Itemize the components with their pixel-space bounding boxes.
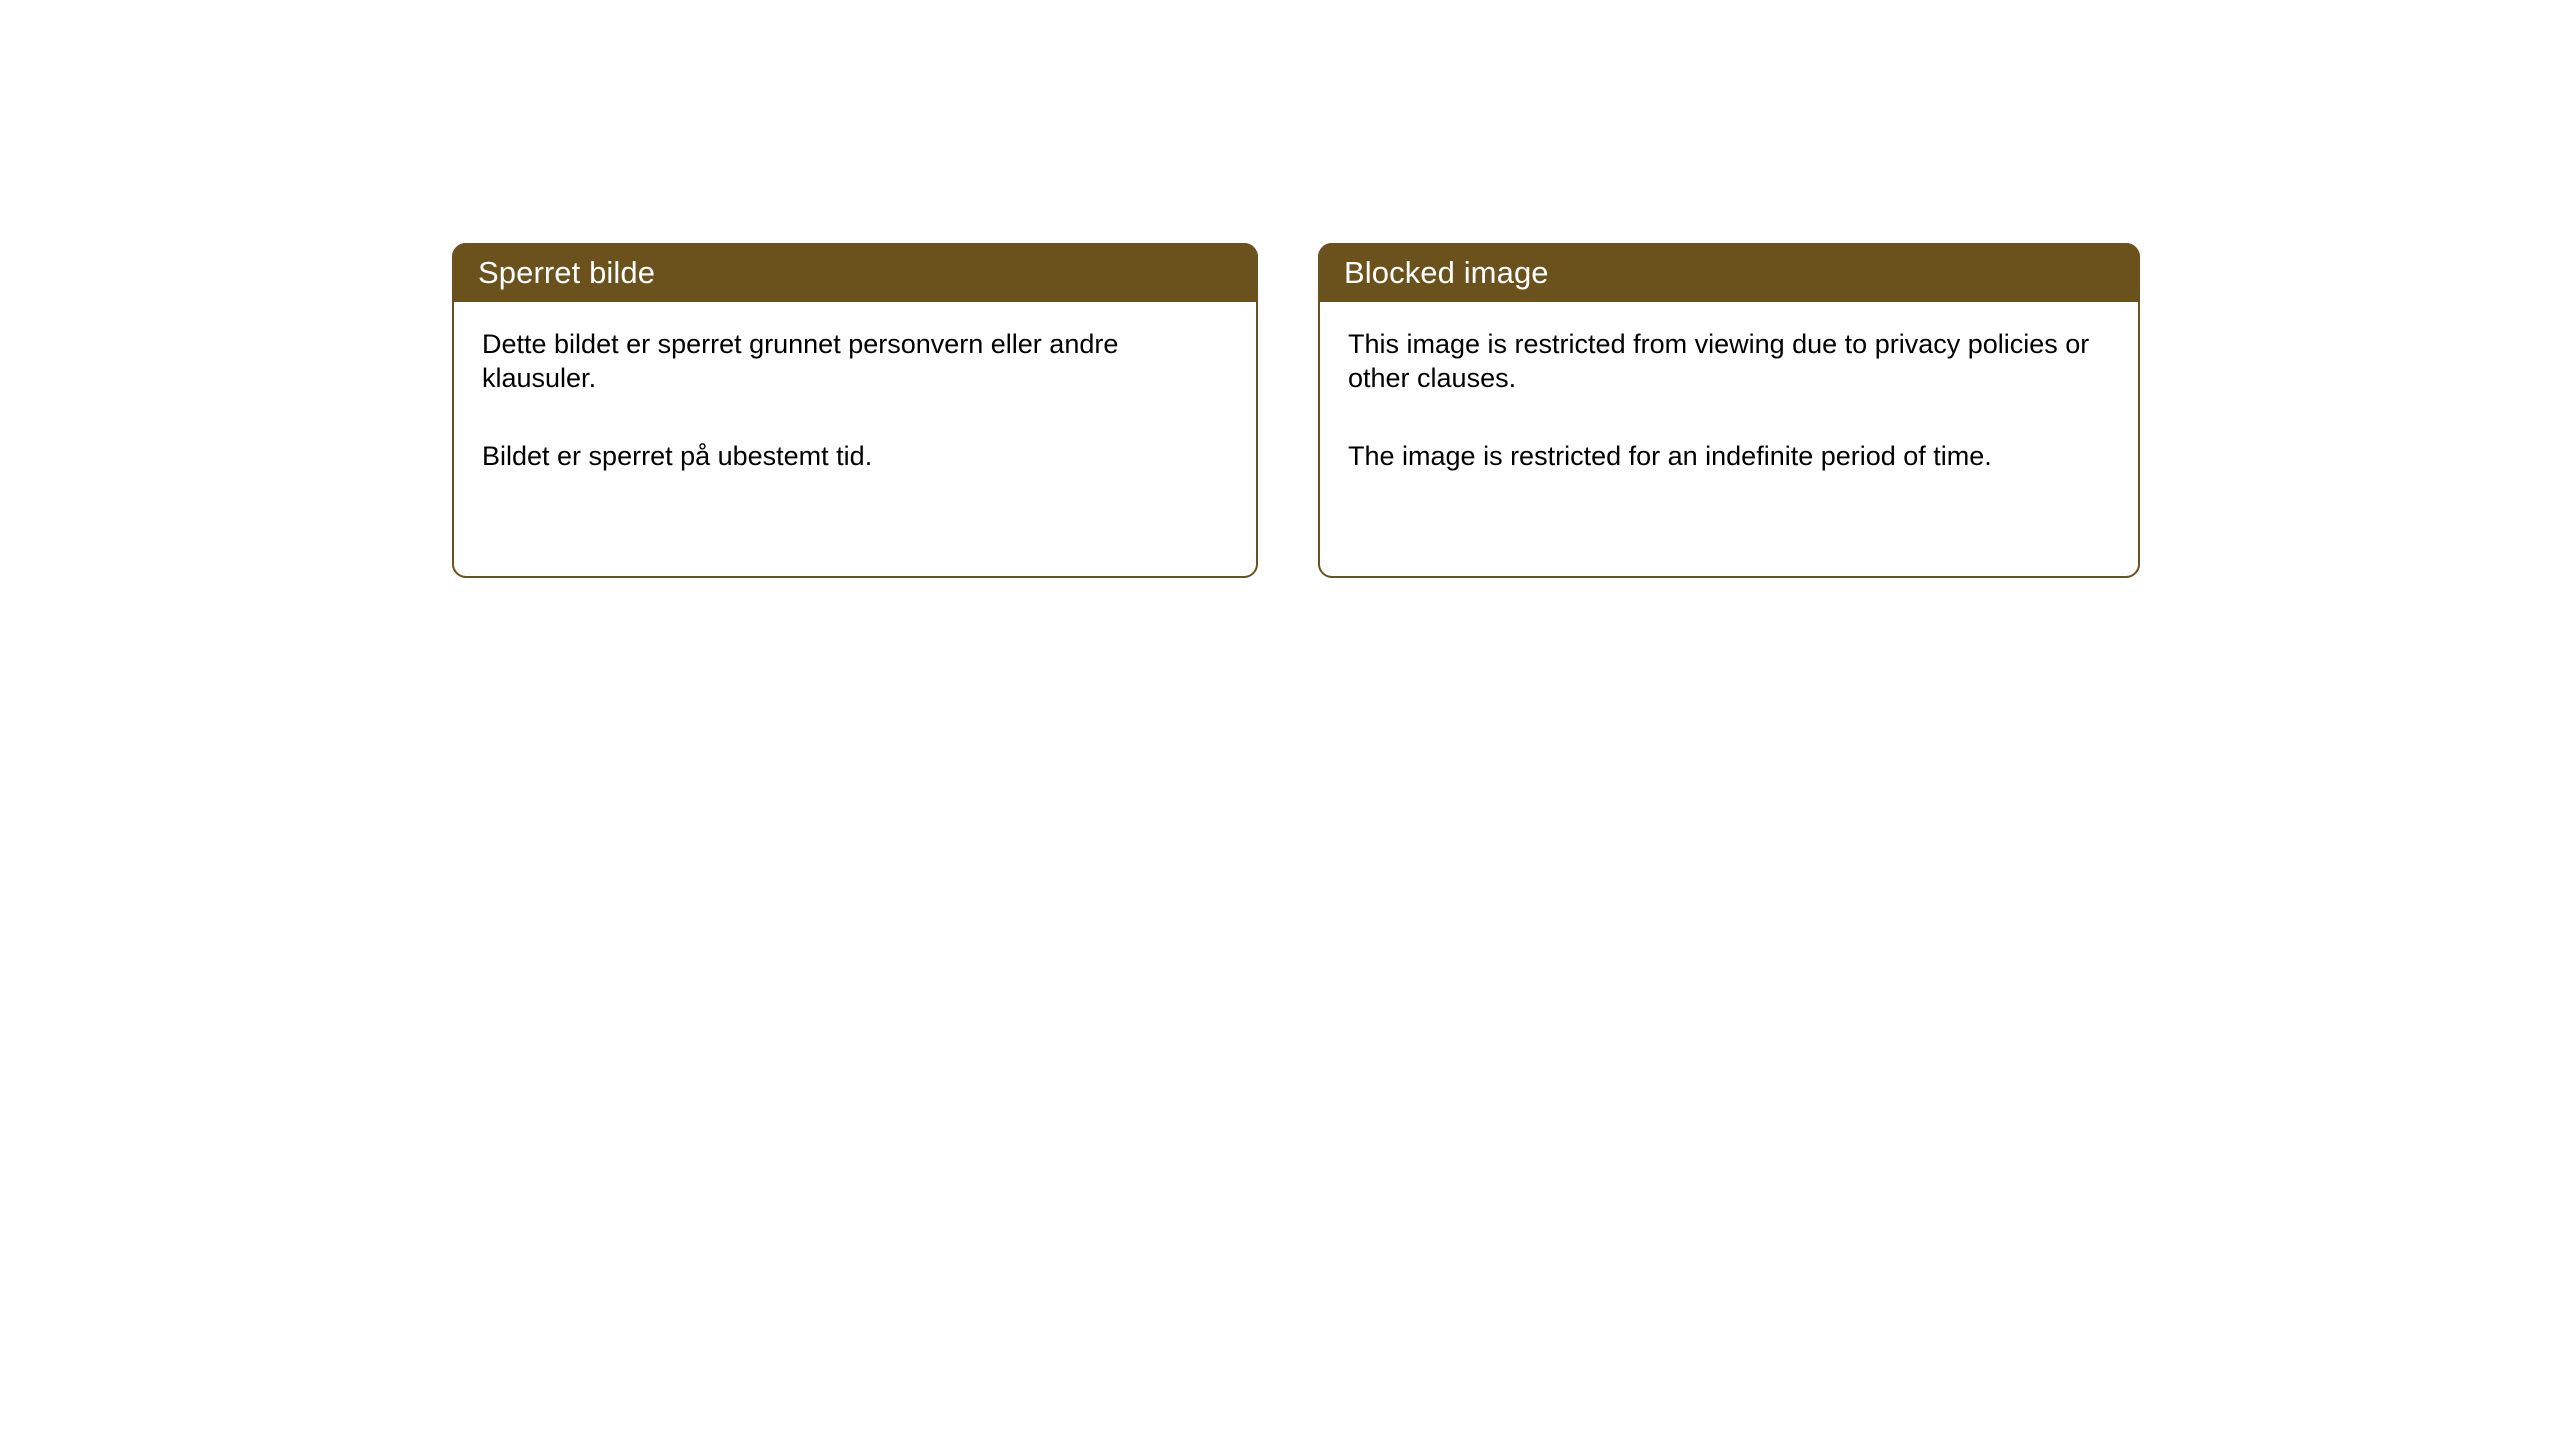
blocked-image-notice-norwegian: Sperret bilde Dette bildet er sperret gr… [452,243,1258,578]
card-header-norwegian: Sperret bilde [452,243,1258,302]
card-title-english: Blocked image [1344,257,1549,288]
page-root: Sperret bilde Dette bildet er sperret gr… [0,0,2560,1440]
card-header-english: Blocked image [1318,243,2140,302]
card-paragraph: The image is restricted for an indefinit… [1348,439,2116,473]
card-body-english: This image is restricted from viewing du… [1320,304,2138,576]
card-paragraph: Bildet er sperret på ubestemt tid. [482,439,1234,473]
blocked-image-notice-english: Blocked image This image is restricted f… [1318,243,2140,578]
card-paragraph: Dette bildet er sperret grunnet personve… [482,327,1234,395]
card-paragraph: This image is restricted from viewing du… [1348,327,2116,395]
card-body-norwegian: Dette bildet er sperret grunnet personve… [454,304,1256,576]
card-title-norwegian: Sperret bilde [478,257,655,288]
